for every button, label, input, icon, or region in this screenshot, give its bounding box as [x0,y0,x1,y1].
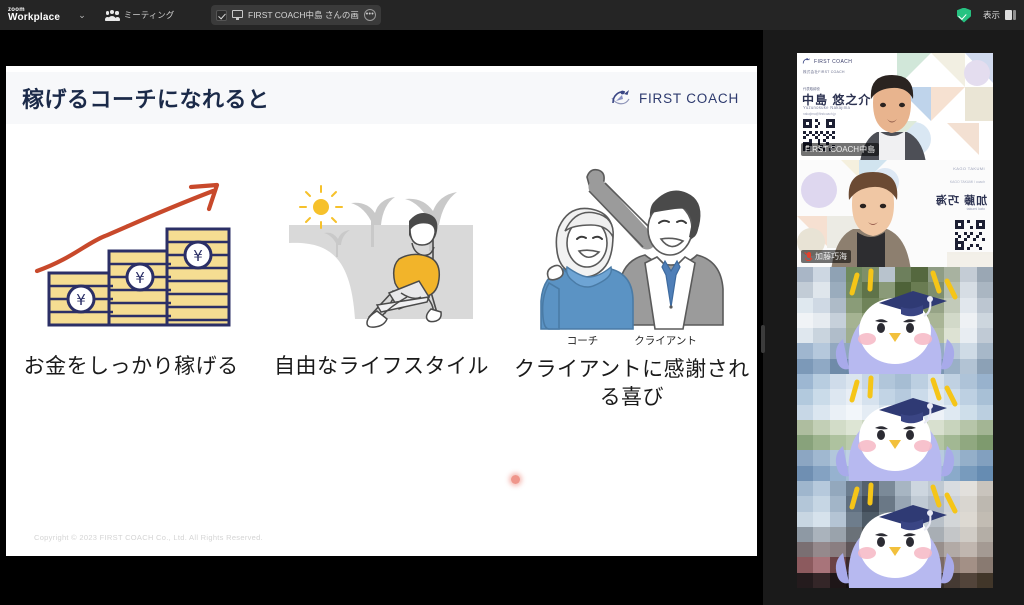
slide-column-lifestyle: 自由なライフスタイル [256,136,506,536]
coach-client-illustration [507,136,757,331]
slide-column-money: ¥ ¥ ¥ お金をしっかり稼げる [6,136,256,536]
screen-share-tab-label: FIRST COACH中島 さんの画 [248,9,359,21]
qr-code [955,220,985,250]
background-mirrored-name: 加藤 巧海 [935,192,987,208]
slide-caption-2: 自由なライフスタイル [274,353,489,381]
laser-pointer-dot [511,475,520,484]
slide-title: 稼げるコーチになれると [22,82,270,114]
presentation-slide: 稼げるコーチになれると FIRST COACH [6,66,757,556]
background-brand: FIRST COACH [802,57,852,66]
penguin-graduate-avatar [797,481,993,588]
background-mirrored-text-1: KAGO TAKUMI [953,166,985,171]
slide-column-gratitude: コーチ クライアント クライアントに感謝される喜び [507,136,757,536]
layout-icon [1005,10,1016,20]
background-brand-name: FIRST COACH [814,59,852,65]
titlebar-right-controls: 表示 [957,0,1016,30]
participant-tile-kato[interactable]: KAGO TAKUMI KAGO TAKUMI / coach 加藤 巧海 ta… [797,160,993,267]
penguin-graduate-avatar [797,267,993,374]
participant-name: 加藤巧海 [815,251,847,262]
participant-tile-avatar-2[interactable] [797,374,993,481]
panel-resize-handle[interactable] [761,325,765,353]
chevron-down-icon[interactable]: ⌄ [78,10,86,21]
zoom-workplace-logo: zoom Workplace [8,7,60,23]
security-shield-icon[interactable] [957,8,971,23]
coin-stack-growth-illustration: ¥ ¥ ¥ [6,136,256,331]
shared-screen-area[interactable]: 稼げるコーチになれると FIRST COACH [0,30,763,605]
background-name-romaji: Yuzunosuke Nakajima [803,105,850,110]
penguin-graduate-avatar [797,374,993,481]
sublabel-client: クライアント [634,333,697,348]
participant-nametag: 加藤巧海 [801,250,851,263]
view-layout-button[interactable]: 表示 [983,9,1016,21]
zoom-meeting-window: zoom Workplace ⌄ ミーティング FIRST COACH中島 さん… [0,0,1024,605]
slide-brand-logo: FIRST COACH [610,87,739,109]
first-coach-mark-icon [610,87,632,109]
slide-columns: ¥ ¥ ¥ お金をしっかり稼げる [6,136,757,536]
svg-text:¥: ¥ [193,247,203,265]
slide-brand-name: FIRST COACH [639,91,739,106]
participant-tile-avatar-3[interactable] [797,481,993,588]
svg-text:¥: ¥ [76,291,86,309]
meeting-menu-item[interactable]: ミーティング [106,9,175,21]
sublabel-coach: コーチ [567,333,599,348]
slide-caption-3: クライアントに感謝される喜び [507,356,757,413]
workplace-wordmark: Workplace [8,13,60,23]
background-mirrored-romaji: takumi kato [967,207,985,211]
beach-laptop-illustration [256,136,506,331]
svg-text:¥: ¥ [135,269,145,287]
participant-tile-avatar-1[interactable] [797,267,993,374]
more-options-icon[interactable]: ••• [364,9,376,21]
people-icon [106,10,119,21]
participant-video-strip: FIRST COACH 株式会社FIRST COACH 代表取締役 中島 悠之介… [797,53,993,589]
slide-copyright: Copyright © 2023 FIRST COACH Co., Ltd. A… [34,533,263,542]
mic-muted-icon [805,252,812,261]
participant-name: FIRST COACH中島 [805,144,875,155]
background-email: nakajima@firstcoach.jp [803,112,836,116]
slide-caption-1: お金をしっかり稼げる [24,353,239,381]
slide-header: 稼げるコーチになれると FIRST COACH [6,72,757,124]
background-mirrored-text-2: KAGO TAKUMI / coach [950,180,985,184]
background-company: 株式会社FIRST COACH [803,70,845,75]
meeting-menu-label: ミーティング [124,9,175,21]
participant-nametag: FIRST COACH中島 [801,143,879,156]
screen-share-icon [232,10,243,20]
window-titlebar: zoom Workplace ⌄ ミーティング FIRST COACH中島 さん… [0,0,1024,30]
illustration-sublabels: コーチ クライアント [567,333,697,348]
screen-share-tab[interactable]: FIRST COACH中島 さんの画 ••• [211,5,381,25]
checkmark-icon[interactable] [216,10,227,21]
participant-tile-nakajima[interactable]: FIRST COACH 株式会社FIRST COACH 代表取締役 中島 悠之介… [797,53,993,160]
view-button-label: 表示 [983,9,1000,21]
